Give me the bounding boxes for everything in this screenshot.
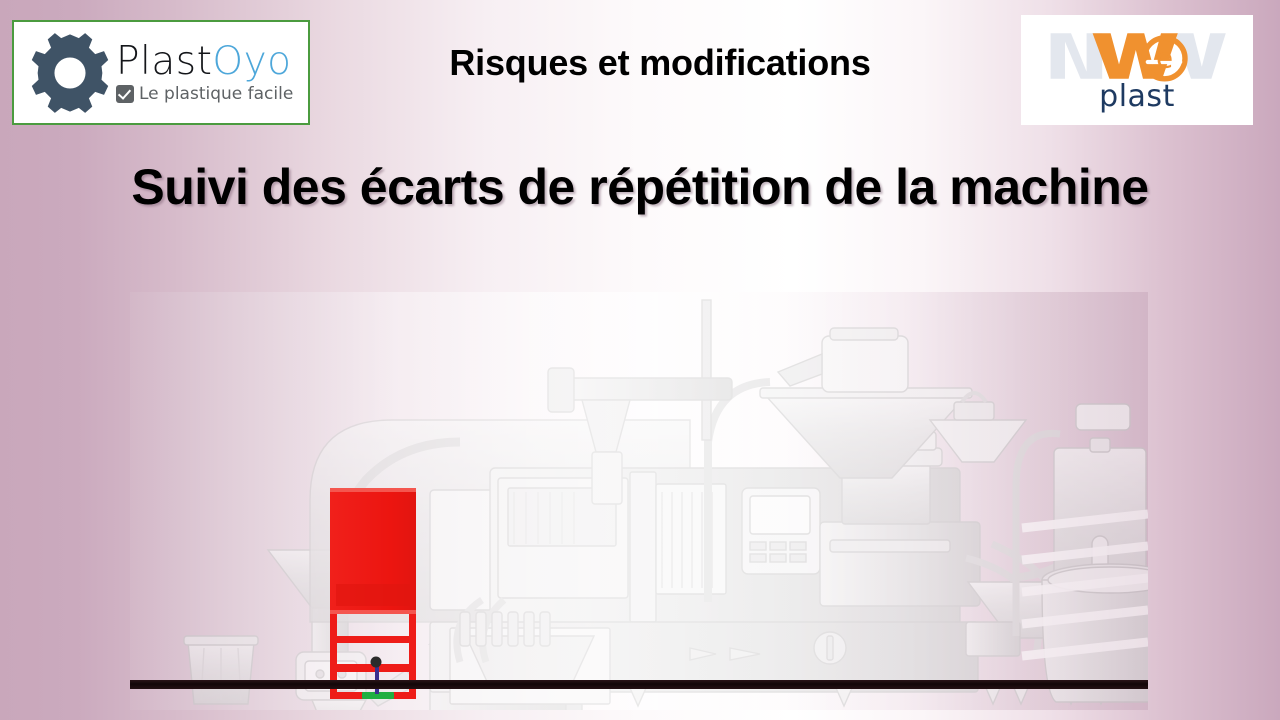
floor-line (130, 680, 1148, 689)
plastoyo-word-part2: Oyo (212, 39, 291, 84)
page-title: Risques et modifications (330, 42, 990, 84)
plastoyo-tagline: Le plastique facile (139, 84, 293, 104)
plastoyo-logo: PlastOyo Le plastique facile (12, 20, 310, 125)
awev-mark-icon: e (1047, 27, 1227, 85)
svg-text:e: e (1156, 41, 1173, 74)
slide-subtitle: Suivi des écarts de répétition de la mac… (0, 158, 1280, 216)
awev-plast-logo: e plast (1021, 15, 1253, 125)
checkbox-checked-icon (116, 85, 134, 103)
plastoyo-word-part1: Plast (116, 39, 212, 84)
slide-canvas: PlastOyo Le plastique facile Risques et … (0, 0, 1280, 720)
highlight-control-cabinet (330, 488, 416, 699)
injection-machine-drawing (130, 292, 1148, 710)
plastoyo-wordmark: PlastOyo Le plastique facile (116, 41, 293, 104)
awev-plast-word: plast (1099, 79, 1175, 114)
gear-icon (28, 31, 112, 115)
machine-illustration (130, 292, 1148, 710)
